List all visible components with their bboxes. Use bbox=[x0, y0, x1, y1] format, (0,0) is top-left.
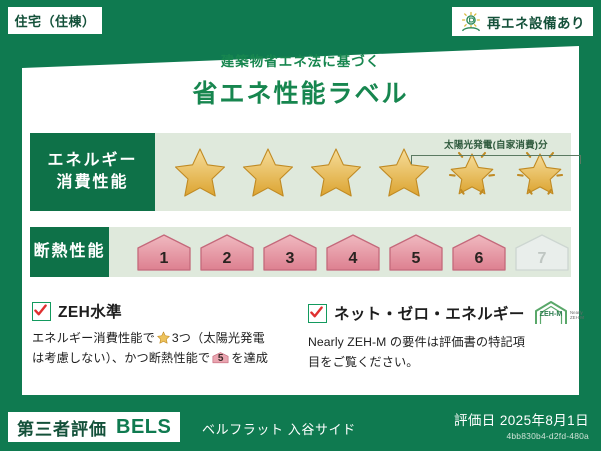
criterion-body: エネルギー消費性能で3つ（太陽光発電 は考慮しない）、かつ断熱性能で5を達成 bbox=[32, 329, 288, 369]
house-badge-on: 4 bbox=[324, 232, 382, 272]
criterion-body-mid: は考慮しない）、かつ断熱性能で bbox=[32, 351, 210, 365]
renewable-equipment-chip: 再エネ設備あり bbox=[452, 7, 593, 36]
bels-badge: 第三者評価 BELS bbox=[8, 412, 180, 442]
zeh-m-logo-icon: ZEH-M Nearly ZEH-M bbox=[532, 300, 588, 326]
energy-performance-row: エネルギー 消費性能 bbox=[30, 133, 571, 211]
energy-star-rating: 太陽光発電(自家消費)分 bbox=[155, 133, 571, 211]
checkbox-checked-icon bbox=[32, 302, 51, 321]
house-badge-off: 7 bbox=[513, 232, 571, 272]
insulation-label-text: 断熱性能 bbox=[33, 241, 105, 263]
house-badge-on: 6 bbox=[450, 232, 508, 272]
insulation-performance-label: 断熱性能 bbox=[30, 227, 109, 277]
svg-text:ZEH-M: ZEH-M bbox=[570, 315, 584, 320]
star-filled bbox=[237, 143, 299, 201]
heading-title: 省エネ性能ラベル bbox=[0, 74, 601, 110]
document-uid: 4bb830b4-d2fd-480a bbox=[454, 431, 589, 441]
house-grade-label: 6 bbox=[450, 250, 508, 268]
criterion-body-line2: 目をご覧ください。 bbox=[308, 355, 419, 369]
criterion-title: ZEH水準 bbox=[58, 300, 122, 322]
house-grade-label: 2 bbox=[198, 250, 256, 268]
criterion-body: Nearly ZEH-M の要件は評価書の特記項 目をご覧ください。 bbox=[308, 333, 564, 373]
criterion-title: ネット・ゼロ・エネルギー bbox=[334, 302, 525, 324]
house-badge-on: 3 bbox=[261, 232, 319, 272]
building-type-chip: 住宅（住棟） bbox=[8, 7, 102, 34]
energy-performance-label: エネルギー 消費性能 bbox=[30, 133, 155, 211]
criterion-body-pre: エネルギー消費性能で bbox=[32, 331, 155, 345]
criterion-body-post: を達成 bbox=[231, 351, 268, 365]
house-grade-label: 1 bbox=[135, 250, 193, 268]
criterion-body-stars: 3つ（太陽光発電 bbox=[172, 331, 265, 345]
svg-text:ZEH-M: ZEH-M bbox=[539, 309, 562, 318]
heading-subtitle: 建築物省エネ法に基づく bbox=[0, 50, 601, 70]
star-filled bbox=[305, 143, 367, 201]
star-icon bbox=[156, 330, 171, 345]
star-list bbox=[155, 143, 571, 201]
evaluation-date-label: 評価日 bbox=[454, 413, 496, 428]
sun-icon bbox=[460, 11, 482, 33]
building-name: ベルフラット 入谷サイド bbox=[202, 419, 356, 438]
evaluation-date-value: 2025年8月1日 bbox=[500, 413, 589, 428]
house-grade-label: 4 bbox=[324, 250, 382, 268]
page-title: 建築物省エネ法に基づく 省エネ性能ラベル bbox=[0, 50, 601, 110]
criterion-zeh-standard: ZEH水準 エネルギー消費性能で3つ（太陽光発電 は考慮しない）、かつ断熱性能で… bbox=[32, 300, 288, 369]
evaluation-date: 評価日 2025年8月1日 bbox=[454, 409, 589, 429]
house-badge-on: 5 bbox=[387, 232, 445, 272]
bels-label: BELS bbox=[116, 416, 171, 439]
energy-label-line1: エネルギー bbox=[47, 150, 137, 172]
criterion-header: ZEH水準 bbox=[32, 300, 288, 322]
criterion-header: ネット・ゼロ・エネルギー ZEH-M Nearly ZEH-M bbox=[308, 300, 564, 326]
renewable-chip-text: 再エネ設備あり bbox=[487, 12, 585, 32]
house-badge-icon: 5 bbox=[212, 350, 229, 365]
insulation-grade-scale: 1 2 3 4 5 bbox=[109, 227, 571, 277]
criterion-net-zero-energy: ネット・ゼロ・エネルギー ZEH-M Nearly ZEH-M Nearly Z… bbox=[308, 300, 564, 373]
house-grade-label: 5 bbox=[387, 250, 445, 268]
building-type-text: 住宅（住棟） bbox=[14, 11, 95, 30]
house-list: 1 2 3 4 5 bbox=[109, 232, 571, 272]
evaluation-info: 評価日 2025年8月1日 4bb830b4-d2fd-480a bbox=[454, 409, 589, 441]
house-grade-label: 3 bbox=[261, 250, 319, 268]
energy-performance-label: 住宅（住棟） 再エネ設備あり 建築物省エネ法に基づく 省エネ性能ラベル bbox=[0, 0, 601, 451]
star-solar bbox=[509, 143, 571, 201]
house-badge-on: 2 bbox=[198, 232, 256, 272]
energy-label-line2: 消費性能 bbox=[56, 172, 128, 194]
checkbox-checked-icon bbox=[308, 304, 327, 323]
criterion-body-line1: Nearly ZEH-M の要件は評価書の特記項 bbox=[308, 335, 525, 349]
star-solar bbox=[441, 143, 503, 201]
house-badge-value: 5 bbox=[212, 351, 229, 367]
insulation-performance-row: 断熱性能 1 2 3 4 bbox=[30, 227, 571, 277]
star-filled bbox=[373, 143, 435, 201]
star-filled bbox=[169, 143, 231, 201]
house-grade-label: 7 bbox=[513, 250, 571, 268]
house-badge-on: 1 bbox=[135, 232, 193, 272]
third-party-eval-label: 第三者評価 bbox=[17, 415, 107, 440]
